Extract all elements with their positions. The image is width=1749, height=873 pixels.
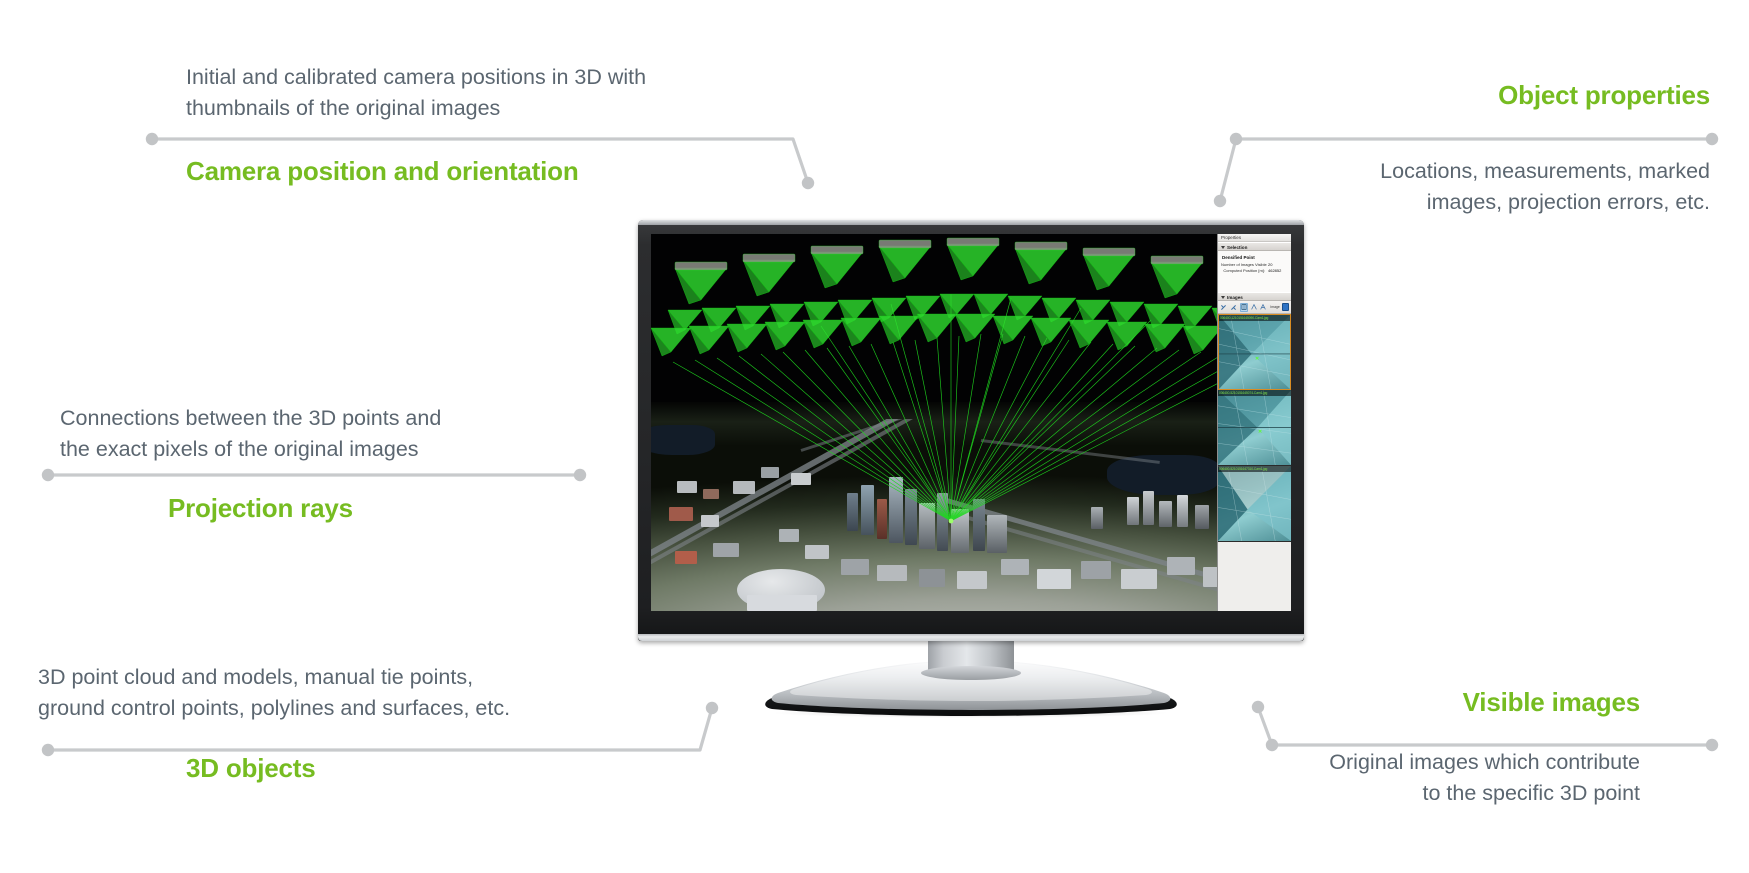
callout-camera-position: Initial and calibrated camera positions … <box>186 62 806 188</box>
property-value: 462852 <box>1268 268 1288 274</box>
monitor-illustration: Properties Selection Densified Point Num… <box>638 220 1304 658</box>
image-thumbnail[interactable]: ✕ 006400-1210151645090-Cam1.jpg <box>1218 314 1291 390</box>
images-toolbar[interactable]: Image <box>1218 301 1291 314</box>
selection-subheader: Densified Point <box>1222 255 1288 260</box>
callout-object-properties-title: Object properties <box>1230 78 1710 112</box>
connector-dot <box>574 469 586 481</box>
properties-panel-title: Properties <box>1218 234 1291 242</box>
image-thumbnail[interactable]: 006400-5210151647310-Cam1.jpg <box>1218 466 1291 542</box>
marked-point-icon: ✕ <box>1255 357 1259 361</box>
zoom-in-icon[interactable] <box>1250 303 1258 312</box>
callout-projection-rays-description: Connections between the 3D points and th… <box>60 403 560 465</box>
connector-dot <box>1214 195 1226 207</box>
properties-panel[interactable]: Properties Selection Densified Point Num… <box>1217 234 1291 611</box>
connector-dot <box>1706 739 1718 751</box>
image-thumbnail-caption: 006400-5210151645074-Cam1.jpg <box>1218 390 1291 396</box>
monitor-screen: Properties Selection Densified Point Num… <box>651 234 1291 611</box>
viewport-camera-frusta-and-rays <box>651 234 1291 611</box>
connector-dot <box>146 133 158 145</box>
image-thumbnail[interactable]: ✕ 006400-5210151645074-Cam1.jpg <box>1218 390 1291 466</box>
callout-projection-rays-title: Projection rays <box>168 491 560 525</box>
section-header-images[interactable]: Images <box>1218 292 1291 301</box>
monitor-chin-edge <box>638 634 1304 641</box>
chevron-down-icon <box>1221 296 1225 299</box>
monitor-bezel: Properties Selection Densified Point Num… <box>638 220 1304 641</box>
next-marked-icon[interactable] <box>1230 303 1238 312</box>
callout-camera-position-description: Initial and calibrated camera positions … <box>186 62 806 124</box>
prev-marked-icon[interactable] <box>1220 303 1228 312</box>
images-toolbar-label: Image <box>1270 305 1279 309</box>
connector-dot <box>706 702 718 714</box>
connector-dot <box>42 469 54 481</box>
callout-camera-position-title: Camera position and orientation <box>186 154 806 188</box>
zoom-out-icon[interactable] <box>1260 303 1268 312</box>
callout-object-properties-description: Locations, measurements, marked images, … <box>1230 156 1710 218</box>
callout-visible-images-description: Original images which contribute to the … <box>1210 747 1640 809</box>
marked-point-icon: ✕ <box>1258 430 1262 434</box>
section-header-selection[interactable]: Selection <box>1218 242 1291 251</box>
image-thumbnail-caption: 006400-5210151647310-Cam1.jpg <box>1218 466 1291 472</box>
callout-visible-images: Visible images Original images which con… <box>1210 685 1640 809</box>
image-color-swatch[interactable] <box>1282 303 1289 311</box>
callout-3d-objects-description: 3D point cloud and models, manual tie po… <box>38 662 678 724</box>
callout-visible-images-title: Visible images <box>1210 685 1640 719</box>
property-row: Computed Position [m]: 462852 <box>1221 268 1288 274</box>
callout-projection-rays: Connections between the 3D points and th… <box>60 403 560 525</box>
infographic-stage: Initial and calibrated camera positions … <box>0 0 1749 873</box>
callout-object-properties: Object properties Locations, measurement… <box>1230 78 1710 218</box>
fit-view-icon[interactable] <box>1240 303 1248 312</box>
chevron-down-icon <box>1221 246 1225 249</box>
selection-body: Densified Point Number of Images Visible… <box>1218 251 1291 292</box>
monitor-top-edge <box>638 220 1304 225</box>
section-header-selection-label: Selection <box>1227 245 1247 250</box>
monitor-neck-collar <box>921 666 1021 680</box>
image-thumbnail-caption: 006400-1210151645090-Cam1.jpg <box>1219 315 1290 321</box>
callout-3d-objects-title: 3D objects <box>186 751 678 785</box>
property-key: Computed Position [m]: <box>1221 268 1268 274</box>
section-header-images-label: Images <box>1227 295 1243 300</box>
callout-3d-objects: 3D point cloud and models, manual tie po… <box>38 662 678 785</box>
